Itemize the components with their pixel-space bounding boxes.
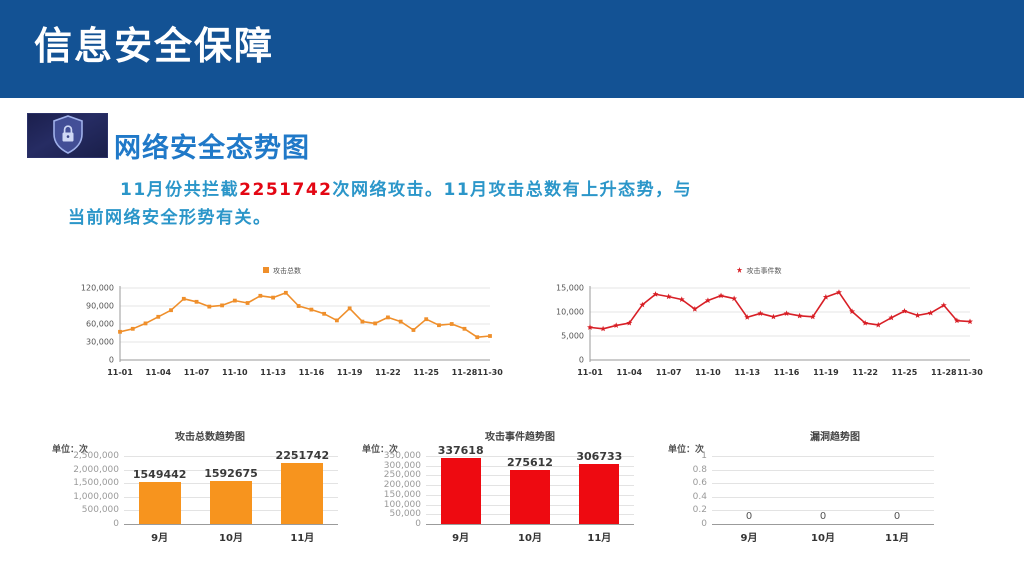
data-point-marker [309, 308, 313, 312]
gridline [712, 456, 934, 457]
data-point-marker [348, 307, 352, 311]
y-axis-tick-label: 2,500,000 [30, 451, 119, 461]
attack-total-line-chart: 攻击总数 030,00060,00090,000120,00011-0111-0… [62, 266, 502, 388]
data-point-marker [437, 323, 441, 327]
y-axis-tick-label: 15,000 [534, 284, 584, 293]
y-axis-tick-label: 5,000 [534, 332, 584, 341]
y-axis-tick-label: 0 [350, 519, 421, 529]
chart-legend: 攻击事件数 [534, 266, 984, 276]
y-axis-tick-label: 2,000,000 [30, 465, 119, 475]
y-axis-tick-label: 50,000 [350, 509, 421, 519]
legend-label: 攻击总数 [273, 267, 301, 275]
bar [139, 482, 181, 524]
data-point-marker [297, 304, 301, 308]
data-point-marker [915, 312, 921, 318]
y-axis-tick-label: 0.2 [660, 505, 707, 515]
chart-plot-area [120, 288, 490, 360]
x-axis-tick-label: 11-30 [957, 368, 983, 377]
y-axis-tick-label: 0 [534, 356, 584, 365]
gridline [712, 470, 934, 471]
x-axis-tick-label: 11-22 [375, 368, 401, 377]
y-axis-tick-label: 0 [30, 519, 119, 529]
chart-title: 攻击总数趋势图 [70, 428, 350, 443]
y-axis-tick-label: 60,000 [62, 320, 114, 329]
legend-label: 攻击事件数 [747, 267, 782, 275]
x-axis-tick-label: 11月 [290, 529, 314, 544]
data-point-marker [386, 316, 390, 320]
attack-events-line-chart: 攻击事件数 05,00010,00015,00011-0111-0411-071… [534, 266, 984, 388]
shield-lock-icon [27, 113, 108, 158]
attack-total-bar-chart: 攻击总数趋势图 单位：次 2,500,0002,000,0001,500,000… [30, 428, 350, 546]
data-point-marker [797, 313, 803, 319]
data-point-marker [475, 335, 479, 339]
x-axis-tick-label: 11-22 [852, 368, 878, 377]
data-point-marker [373, 322, 377, 326]
x-axis-tick-label: 11-04 [145, 368, 171, 377]
bar [579, 464, 619, 524]
data-point-marker [412, 328, 416, 332]
y-axis-tick-label: 90,000 [62, 302, 114, 311]
bar-value-label: 275612 [507, 456, 553, 469]
data-point-marker [361, 320, 365, 324]
data-point-marker [156, 315, 160, 319]
vulnerability-bar-chart: 漏洞趋势图 单位：次 10.80.60.40.2009月010月011月 [660, 428, 970, 546]
paragraph-part1: 11月份共拦截 [120, 180, 239, 200]
paragraph-part2: 次网络攻击。11月攻击总数有上升态势，与 [332, 180, 692, 200]
data-point-marker [784, 310, 790, 316]
y-axis-tick-label: 0.6 [660, 478, 707, 488]
chart-title: 攻击事件趋势图 [390, 428, 650, 443]
data-point-marker [144, 322, 148, 326]
bar-value-label: 0 [894, 511, 900, 522]
data-point-marker [718, 293, 724, 299]
bar [510, 470, 550, 524]
x-axis-tick-label: 9月 [151, 529, 168, 544]
y-axis-tick-label: 150,000 [350, 490, 421, 500]
data-point-marker [233, 299, 237, 303]
y-axis-tick-label: 0.8 [660, 465, 707, 475]
bar-value-label: 0 [746, 511, 752, 522]
chart-legend: 攻击总数 [62, 266, 502, 276]
y-axis-tick-label: 10,000 [534, 308, 584, 317]
bar [281, 463, 323, 524]
x-axis-tick-label: 10月 [219, 529, 243, 544]
data-point-marker [463, 327, 467, 331]
x-axis-tick-label: 11-19 [813, 368, 839, 377]
x-axis-line [426, 524, 634, 525]
slide-root: 信息安全保障 网络安全态势图 11月份共拦截2251742次网络攻击。11月攻击… [0, 0, 1024, 576]
gridline [712, 483, 934, 484]
y-axis-tick-label: 300,000 [350, 461, 421, 471]
x-axis-line [712, 524, 934, 525]
x-axis-line [124, 524, 338, 525]
data-point-marker [875, 322, 881, 328]
x-axis-tick-label: 11-07 [656, 368, 682, 377]
y-axis-tick-label: 30,000 [62, 338, 114, 347]
y-axis-tick-label: 500,000 [30, 505, 119, 515]
data-point-marker [322, 312, 326, 316]
bar-value-label: 1592675 [204, 467, 258, 480]
x-axis-tick-label: 11-01 [107, 368, 133, 377]
data-point-marker [399, 320, 403, 324]
section-title: 网络安全态势图 [114, 126, 310, 165]
data-point-marker [271, 296, 275, 300]
data-point-marker [182, 297, 186, 301]
legend-marker-icon [263, 267, 269, 273]
x-axis-tick-label: 11-16 [774, 368, 800, 377]
data-point-marker [335, 319, 339, 323]
bar-value-label: 1549442 [133, 468, 187, 481]
bar-value-label: 337618 [438, 444, 484, 457]
summary-paragraph: 11月份共拦截2251742次网络攻击。11月攻击总数有上升态势，与当前网络安全… [68, 176, 958, 232]
data-point-marker [195, 300, 199, 304]
bar-value-label: 306733 [576, 450, 622, 463]
x-axis-tick-label: 10月 [811, 529, 835, 544]
y-axis-tick-label: 350,000 [350, 451, 421, 461]
attack-events-bar-chart: 攻击事件趋势图 单位：次 350,000300,000250,000200,00… [350, 428, 660, 546]
y-axis-tick-label: 1,500,000 [30, 478, 119, 488]
chart-series-svg [116, 286, 494, 362]
x-axis-tick-label: 11-25 [413, 368, 439, 377]
x-axis-tick-label: 9月 [452, 529, 469, 544]
x-axis-tick-label: 11-04 [617, 368, 643, 377]
y-axis-tick-label: 120,000 [62, 284, 114, 293]
data-point-marker [246, 301, 250, 305]
x-axis-tick-label: 11-19 [337, 368, 363, 377]
x-axis-tick-label: 11-28 [452, 368, 478, 377]
data-point-marker [613, 322, 619, 328]
data-point-marker [220, 304, 224, 308]
data-point-marker [169, 308, 173, 312]
data-point-marker [131, 327, 135, 331]
x-axis-tick-label: 11-25 [892, 368, 918, 377]
data-point-marker [928, 310, 934, 316]
gridline [712, 497, 934, 498]
y-axis-tick-label: 0 [660, 519, 707, 529]
x-axis-tick-label: 11-30 [477, 368, 503, 377]
data-point-marker [488, 334, 492, 338]
data-point-marker [207, 305, 211, 309]
x-axis-tick-label: 9月 [741, 529, 758, 544]
data-point-marker [600, 326, 606, 332]
x-axis-tick-label: 11-13 [734, 368, 760, 377]
y-axis-tick-label: 0.4 [660, 492, 707, 502]
x-axis-tick-label: 11-10 [222, 368, 248, 377]
y-axis-tick-label: 250,000 [350, 470, 421, 480]
x-axis-tick-label: 10月 [518, 529, 542, 544]
paragraph-highlight-number: 2251742 [239, 180, 332, 200]
data-point-marker [424, 317, 428, 321]
chart-title: 漏洞趋势图 [720, 428, 950, 443]
data-point-marker [450, 322, 454, 326]
y-axis-tick-label: 0 [62, 356, 114, 365]
chart-series-svg [586, 286, 974, 362]
bar-value-label: 0 [820, 511, 826, 522]
x-axis-tick-label: 11-01 [577, 368, 603, 377]
legend-marker-icon [737, 267, 743, 273]
y-axis-tick-label: 1 [660, 451, 707, 461]
data-point-marker [258, 294, 262, 298]
data-point-marker [967, 319, 973, 325]
data-point-marker [666, 294, 672, 300]
data-point-marker [118, 330, 122, 334]
x-axis-tick-label: 11-07 [184, 368, 210, 377]
paragraph-line2: 当前网络安全形势有关。 [68, 208, 272, 228]
data-point-marker [771, 314, 777, 320]
chart-plot-area [590, 288, 970, 360]
data-point-marker [757, 310, 763, 316]
y-axis-tick-label: 100,000 [350, 500, 421, 510]
bar-value-label: 2251742 [276, 449, 330, 462]
data-point-marker [284, 291, 288, 295]
bar [210, 481, 252, 524]
y-axis-tick-label: 1,000,000 [30, 492, 119, 502]
x-axis-tick-label: 11月 [885, 529, 909, 544]
x-axis-tick-label: 11月 [587, 529, 611, 544]
x-axis-tick-label: 11-13 [260, 368, 286, 377]
bar [441, 458, 481, 524]
y-axis-tick-label: 200,000 [350, 480, 421, 490]
x-axis-tick-label: 11-28 [931, 368, 957, 377]
x-axis-tick-label: 11-16 [299, 368, 325, 377]
x-axis-tick-label: 11-10 [695, 368, 721, 377]
page-title: 信息安全保障 [34, 22, 274, 70]
